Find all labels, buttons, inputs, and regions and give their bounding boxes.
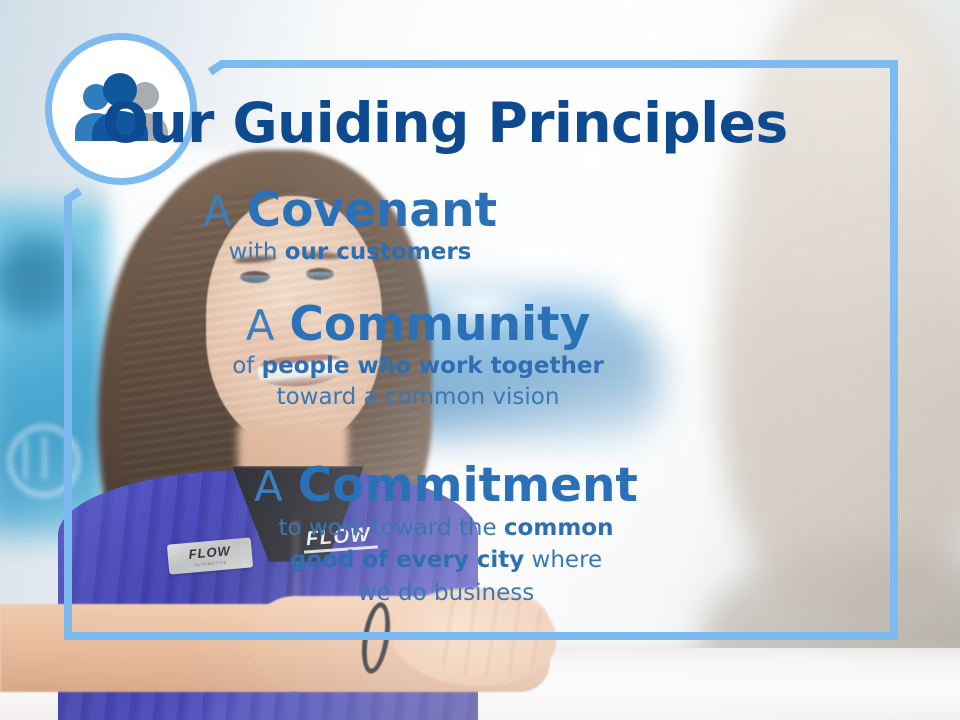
bokeh-light-2 bbox=[660, 300, 694, 334]
customer-hair bbox=[720, 10, 960, 610]
employee-fingers bbox=[430, 596, 550, 676]
name-badge-brand: FLOW bbox=[188, 544, 231, 561]
group-of-people-icon bbox=[69, 72, 173, 146]
people-icon-badge bbox=[45, 33, 197, 185]
bokeh-light-1 bbox=[614, 272, 660, 318]
guiding-principles-poster: FLOW AUTOMOTIVE FLOW bbox=[0, 0, 960, 720]
